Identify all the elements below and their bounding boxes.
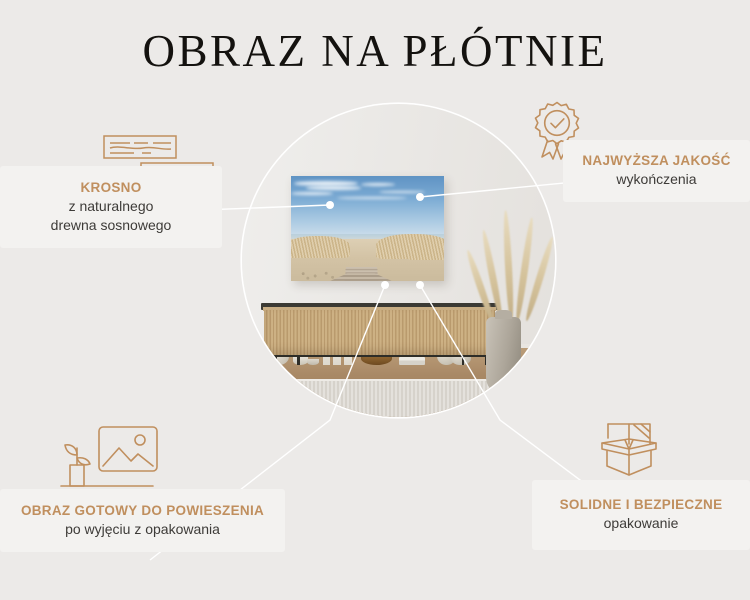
- cloud: [379, 191, 425, 194]
- feature-line2: opakowanie: [604, 514, 679, 533]
- product-scene-circle: [242, 104, 555, 417]
- dune-grass-left: [291, 236, 351, 258]
- sideboard-legs: [266, 355, 494, 366]
- feature-card-gotowy[interactable]: OBRAZ GOTOWY DO POWIESZENIA po wyjęciu z…: [0, 489, 285, 552]
- pampas-vase: [486, 317, 520, 392]
- cloud: [337, 197, 408, 199]
- feature-card-krosno[interactable]: KROSNO z naturalnego drewna sosnowego: [0, 166, 222, 248]
- feature-heading: KROSNO: [80, 179, 141, 197]
- canvas-artwork: [291, 176, 444, 281]
- page-title: OBRAZ NA PŁÓTNIE: [0, 26, 750, 78]
- leg: [462, 355, 465, 366]
- infographic-stage: OBRAZ NA PŁÓTNIE: [0, 0, 750, 600]
- feature-line2: po wyjęciu z opakowania: [65, 520, 220, 539]
- cloud: [306, 186, 361, 190]
- feature-line2: z naturalnego: [69, 197, 154, 216]
- leg: [275, 355, 278, 366]
- open-box-icon: [596, 418, 662, 485]
- feature-line2: wykończenia: [616, 170, 696, 189]
- leg: [297, 355, 300, 366]
- cloud: [361, 183, 395, 186]
- feature-line3: drewna sosnowego: [51, 216, 172, 235]
- artwork-sky: [291, 176, 444, 237]
- room-scene: [242, 104, 555, 417]
- footprints: [294, 271, 340, 280]
- framed-picture-plant-icon: [58, 424, 160, 499]
- feature-card-jakosc[interactable]: NAJWYŻSZA JAKOŚĆ wykończenia: [563, 140, 750, 202]
- sideboard: [261, 303, 499, 366]
- dune-grass-far-right: [407, 239, 444, 260]
- cloud: [291, 192, 334, 195]
- feature-heading: NAJWYŻSZA JAKOŚĆ: [582, 152, 730, 170]
- feature-card-opakowanie[interactable]: SOLIDNE I BEZPIECZNE opakowanie: [532, 480, 750, 550]
- feature-heading: SOLIDNE I BEZPIECZNE: [560, 496, 723, 514]
- feature-heading: OBRAZ GOTOWY DO POWIESZENIA: [21, 502, 264, 520]
- sideboard-fluted-doors: [264, 310, 495, 355]
